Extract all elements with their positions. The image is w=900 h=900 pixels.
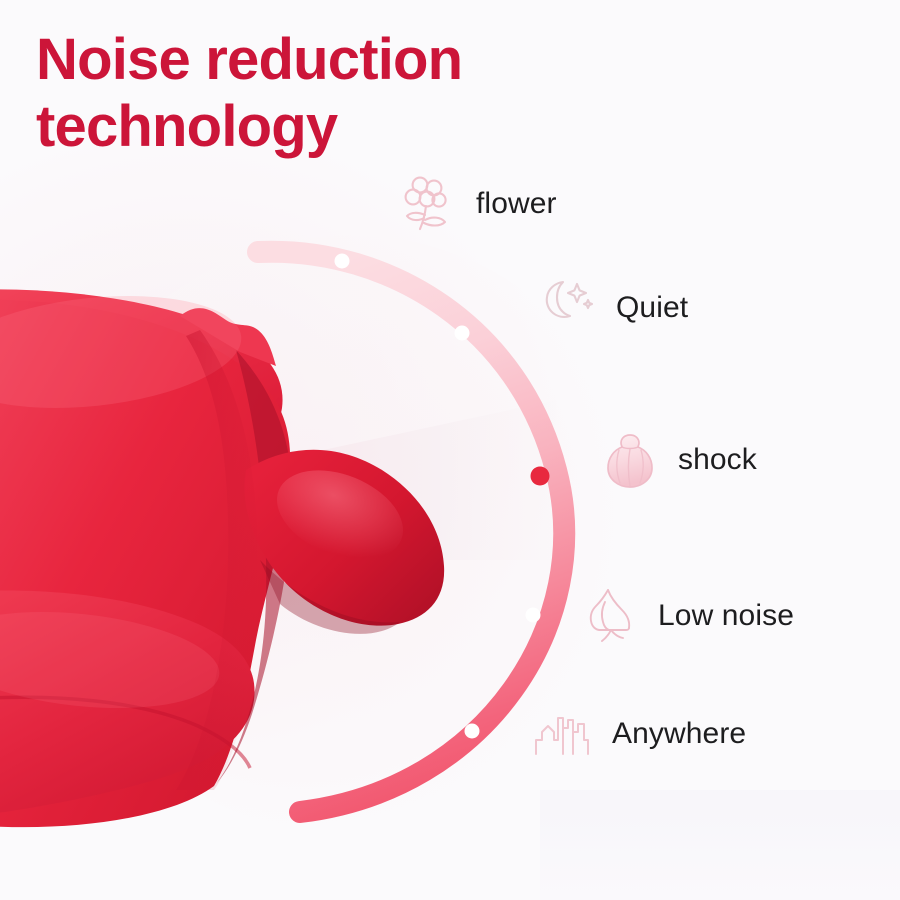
- marker-shock-active[interactable]: [531, 467, 550, 486]
- rosebud-icon: [598, 428, 662, 492]
- marker-low-noise[interactable]: [526, 608, 541, 623]
- feature-label-flower: flower: [476, 187, 557, 221]
- feature-item-low-noise[interactable]: Low noise: [578, 584, 794, 648]
- city-skyline-icon: [532, 702, 596, 766]
- feature-label-quiet: Quiet: [616, 291, 688, 325]
- feature-label-shock: shock: [678, 443, 757, 477]
- marker-anywhere[interactable]: [465, 724, 480, 739]
- marker-quiet[interactable]: [455, 326, 470, 341]
- flower-icon: [396, 172, 460, 236]
- product-feature-infographic: Noise reduction technology: [0, 0, 900, 900]
- page-title: Noise reduction technology: [36, 26, 656, 161]
- moon-stars-icon: [536, 276, 600, 340]
- feature-item-flower[interactable]: flower: [396, 172, 557, 236]
- feature-item-shock[interactable]: shock: [598, 428, 757, 492]
- feature-label-anywhere: Anywhere: [612, 717, 746, 751]
- tulip-outline-icon: [578, 584, 642, 648]
- feature-item-quiet[interactable]: Quiet: [536, 276, 688, 340]
- marker-flower[interactable]: [335, 254, 350, 269]
- feature-label-low-noise: Low noise: [658, 599, 794, 633]
- feature-item-anywhere[interactable]: Anywhere: [532, 702, 746, 766]
